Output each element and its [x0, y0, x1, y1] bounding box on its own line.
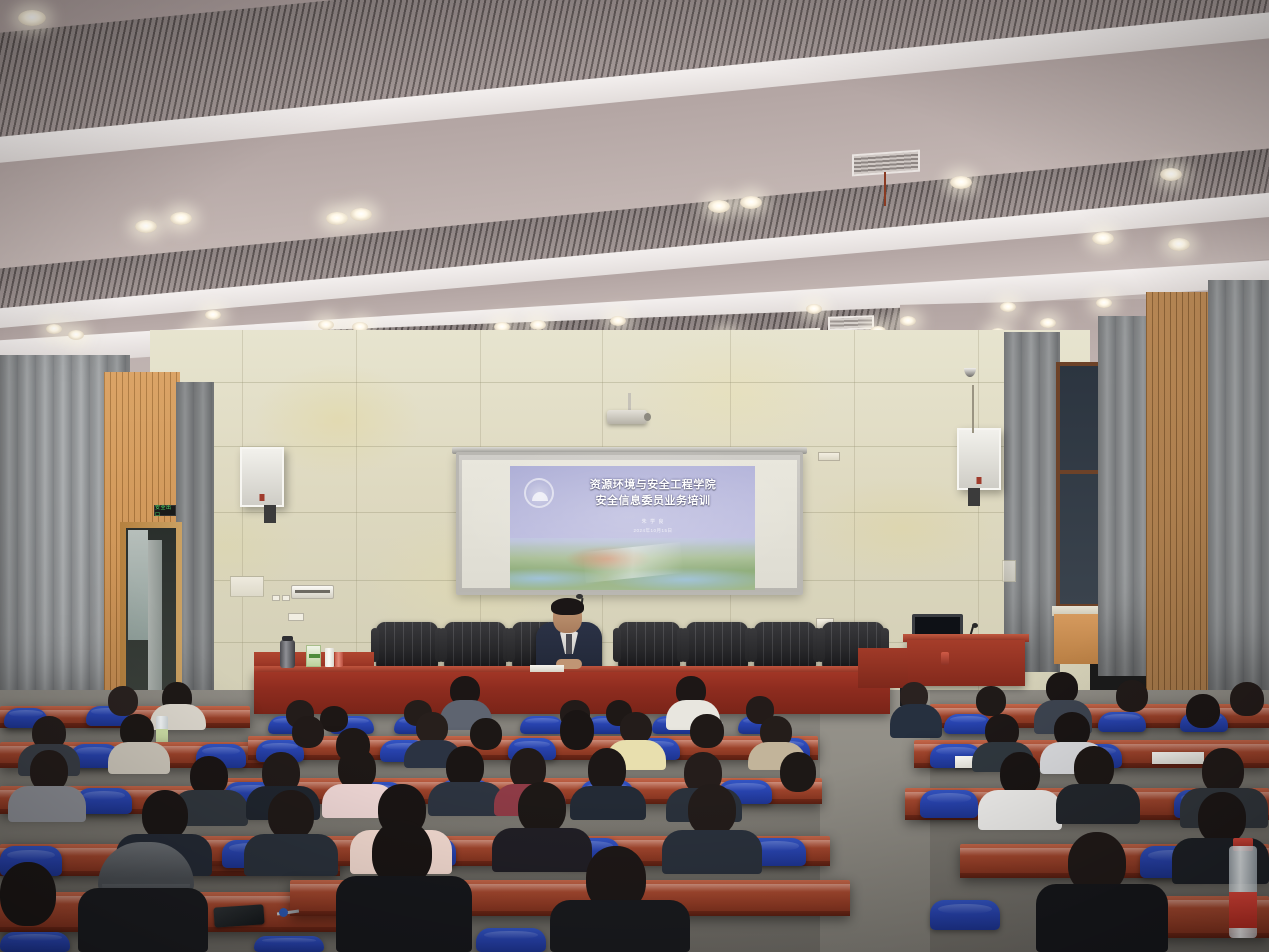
mobile-phone	[213, 904, 264, 927]
downlight-icon	[950, 176, 972, 189]
microphone-head-icon	[576, 594, 583, 599]
downlight-icon	[1040, 318, 1056, 328]
audience-torso	[8, 786, 86, 822]
audience-seat	[1098, 712, 1146, 732]
exit-sign: 安全出口	[154, 505, 176, 516]
audience-seat	[930, 900, 1000, 930]
audience-torso	[336, 876, 472, 952]
downlight-icon	[900, 316, 916, 326]
wall-speaker-left	[240, 447, 284, 507]
thermos-flask	[280, 640, 295, 668]
wall-panel-left	[230, 576, 264, 597]
audience-torso	[890, 704, 942, 738]
door-leaf	[148, 540, 162, 708]
audience-torso	[492, 828, 592, 872]
audience-head	[690, 714, 724, 748]
downlight-icon	[350, 208, 372, 221]
audience-torso	[108, 742, 170, 774]
projector-lens-icon	[644, 413, 651, 421]
audience-seat	[920, 790, 978, 818]
tissue-box	[306, 645, 321, 667]
downlight-icon	[1096, 298, 1112, 308]
audience-seat	[520, 716, 564, 734]
downlight-icon	[205, 310, 221, 320]
paper-cup	[325, 648, 334, 667]
downlight-icon	[46, 324, 62, 334]
downlight-icon	[68, 330, 84, 340]
vent-drop-wire	[884, 172, 886, 206]
speaker-cable-right	[972, 385, 974, 433]
stage-chair	[376, 622, 438, 668]
curtain-right-inner	[1004, 332, 1060, 672]
stage-chair	[686, 622, 748, 668]
downlight-icon	[135, 220, 157, 233]
audience-head	[320, 706, 348, 732]
audience-torso	[1056, 784, 1140, 824]
downlight-icon	[318, 320, 334, 330]
podium	[907, 640, 1025, 686]
note-paper	[1152, 752, 1204, 764]
wood-column-right	[1146, 292, 1212, 692]
slide-title-line1: 资源环境与安全工程学院	[560, 479, 746, 492]
audience-seat	[254, 936, 324, 952]
red-cup	[335, 652, 343, 667]
downlight-icon	[708, 200, 730, 213]
curtain-right-outer	[1208, 280, 1269, 700]
wall-speaker-right	[957, 428, 1001, 490]
wall-notice-right	[818, 452, 840, 461]
door-glass	[128, 530, 148, 640]
audience-head	[976, 686, 1006, 716]
audience-head	[1116, 680, 1148, 712]
slide-title-line2: 安全信息委员业务培训	[560, 495, 746, 508]
audience-head	[470, 718, 502, 750]
downlight-icon	[1000, 302, 1016, 312]
audience-torso	[570, 786, 646, 820]
audience-torso	[428, 782, 504, 816]
audience-head	[268, 790, 314, 840]
audience-head	[518, 782, 566, 834]
presenter-document	[530, 665, 564, 672]
presenter-tie	[566, 634, 572, 654]
audience-torso	[978, 790, 1062, 830]
downlight-icon	[1168, 238, 1190, 251]
wall-panel-right	[1002, 560, 1016, 582]
speaker-bracket-left	[264, 505, 276, 523]
audience-head	[780, 752, 816, 792]
speaker-bracket-right	[968, 488, 980, 506]
keys	[277, 908, 303, 920]
podium-beverage	[941, 652, 949, 665]
lecture-hall-photo: 安全出口 资源环境与安全工程学院 安全信息委员业务培训	[0, 0, 1269, 952]
audience-head	[688, 784, 736, 836]
audience-head	[108, 686, 138, 716]
downlight-icon	[530, 320, 546, 330]
podium-microphone-head-icon	[972, 623, 978, 628]
wall-socket-a	[272, 595, 280, 601]
downlight-icon	[740, 196, 762, 209]
audience-head	[1198, 792, 1246, 844]
university-emblem-icon	[524, 478, 554, 508]
audience-head	[1230, 682, 1264, 716]
audience-head	[292, 716, 324, 748]
stage-chair	[444, 622, 506, 668]
projected-slide: 资源环境与安全工程学院 安全信息委员业务培训 朱 学 良 2024年10月15日	[510, 466, 755, 590]
audience-head	[1186, 694, 1220, 728]
projector-icon	[607, 410, 647, 424]
downlight-icon	[610, 316, 626, 326]
audience-head	[560, 710, 594, 750]
downlight-icon	[1160, 168, 1182, 181]
slide-date: 2024年10月15日	[560, 528, 746, 534]
audience-torso	[662, 830, 762, 874]
audience-torso	[1036, 884, 1168, 952]
slide-presenter: 朱 学 良	[560, 518, 746, 525]
slide-campus-photo	[510, 538, 755, 590]
stage-chair	[618, 622, 680, 668]
downlight-icon	[326, 212, 348, 225]
wall-socket-b	[282, 595, 290, 601]
audience-head	[142, 790, 188, 840]
audience-torso	[78, 888, 208, 952]
downlight-icon	[806, 304, 822, 314]
wall-control-box	[291, 585, 334, 599]
audience-seat	[0, 932, 70, 952]
downlight-icon	[1092, 232, 1114, 245]
whiteboard-surface: 资源环境与安全工程学院 安全信息委员业务培训 朱 学 良 2024年10月15日	[462, 460, 797, 588]
curtain-right-mid	[1098, 316, 1152, 676]
side-cabinet-right	[858, 648, 908, 688]
audience-head	[0, 862, 56, 926]
wall-socket-c	[288, 613, 304, 621]
bottle-label	[1229, 892, 1257, 928]
downlight-icon	[170, 212, 192, 225]
audience-torso	[244, 834, 338, 876]
whiteboard-screen: 资源环境与安全工程学院 安全信息委员业务培训 朱 学 良 2024年10月15日	[456, 452, 803, 595]
stage-chair	[754, 622, 816, 668]
audience-seat	[476, 928, 546, 952]
downlight-icon	[18, 10, 46, 26]
audience-torso	[550, 900, 690, 952]
exit-sign-label: 安全出口	[155, 504, 175, 518]
ceiling-air-vent-mid	[828, 315, 874, 331]
presenter-hair	[551, 598, 584, 615]
